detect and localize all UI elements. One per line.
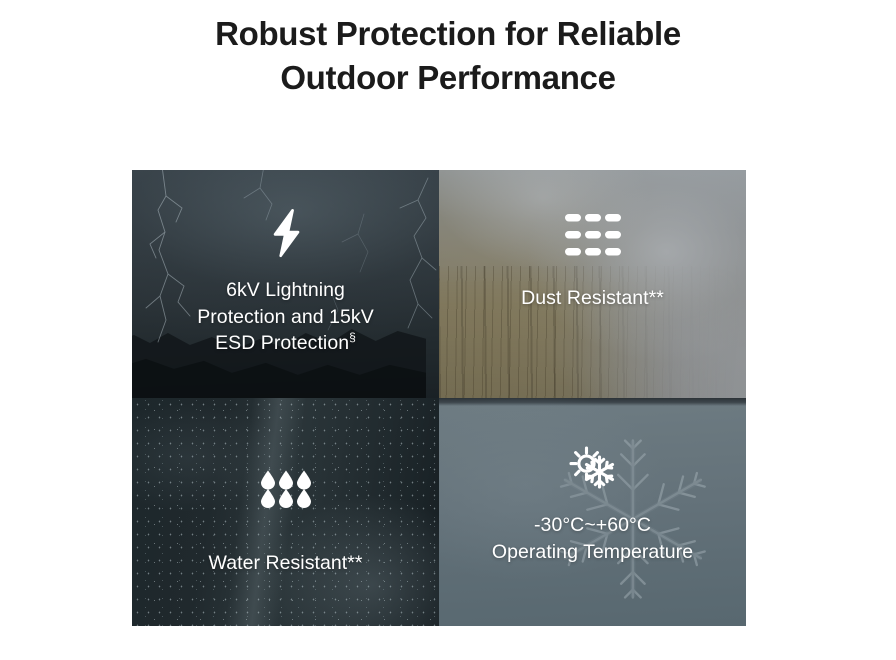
water-droplets-icon bbox=[259, 470, 313, 508]
label-line-1: 6kV Lightning bbox=[226, 279, 345, 301]
page-title: Robust Protection for Reliable Outdoor P… bbox=[0, 12, 896, 100]
sun-snowflake-icon bbox=[568, 446, 618, 492]
feature-cell-dust-resistant[interactable]: Dust Resistant** bbox=[439, 170, 746, 398]
page-title-line-1: Robust Protection for Reliable bbox=[0, 12, 896, 56]
feature-cell-lightning-protection[interactable]: 6kV Lightning Protection and 15kV ESD Pr… bbox=[132, 170, 439, 398]
feature-label-dust-resistant: Dust Resistant** bbox=[509, 285, 676, 312]
label-line-3: ESD Protection bbox=[215, 332, 349, 354]
feature-grid: 6kV Lightning Protection and 15kV ESD Pr… bbox=[132, 170, 746, 626]
feature-cell-water-resistant[interactable]: Water Resistant** bbox=[132, 398, 439, 626]
label-line-2: Operating Temperature bbox=[492, 541, 693, 563]
dust-particles-grid-icon bbox=[564, 213, 622, 259]
label-line-2: Protection and 15kV bbox=[197, 306, 374, 328]
page-title-line-2: Outdoor Performance bbox=[0, 56, 896, 100]
footnote-marker-section-sign: § bbox=[349, 331, 356, 345]
feature-cell-operating-temperature[interactable]: -30°C~+60°C Operating Temperature bbox=[439, 398, 746, 626]
feature-label-water-resistant: Water Resistant** bbox=[196, 550, 374, 577]
outdoor-protection-feature-panel: Robust Protection for Reliable Outdoor P… bbox=[0, 0, 896, 660]
feature-label-lightning-protection: 6kV Lightning Protection and 15kV ESD Pr… bbox=[185, 277, 386, 357]
label-line-1: Dust Resistant** bbox=[521, 287, 664, 309]
label-line-1: Water Resistant** bbox=[208, 552, 362, 574]
feature-label-operating-temperature: -30°C~+60°C Operating Temperature bbox=[480, 512, 705, 565]
lightning-bolt-icon bbox=[266, 208, 306, 258]
label-line-1: -30°C~+60°C bbox=[534, 514, 651, 536]
